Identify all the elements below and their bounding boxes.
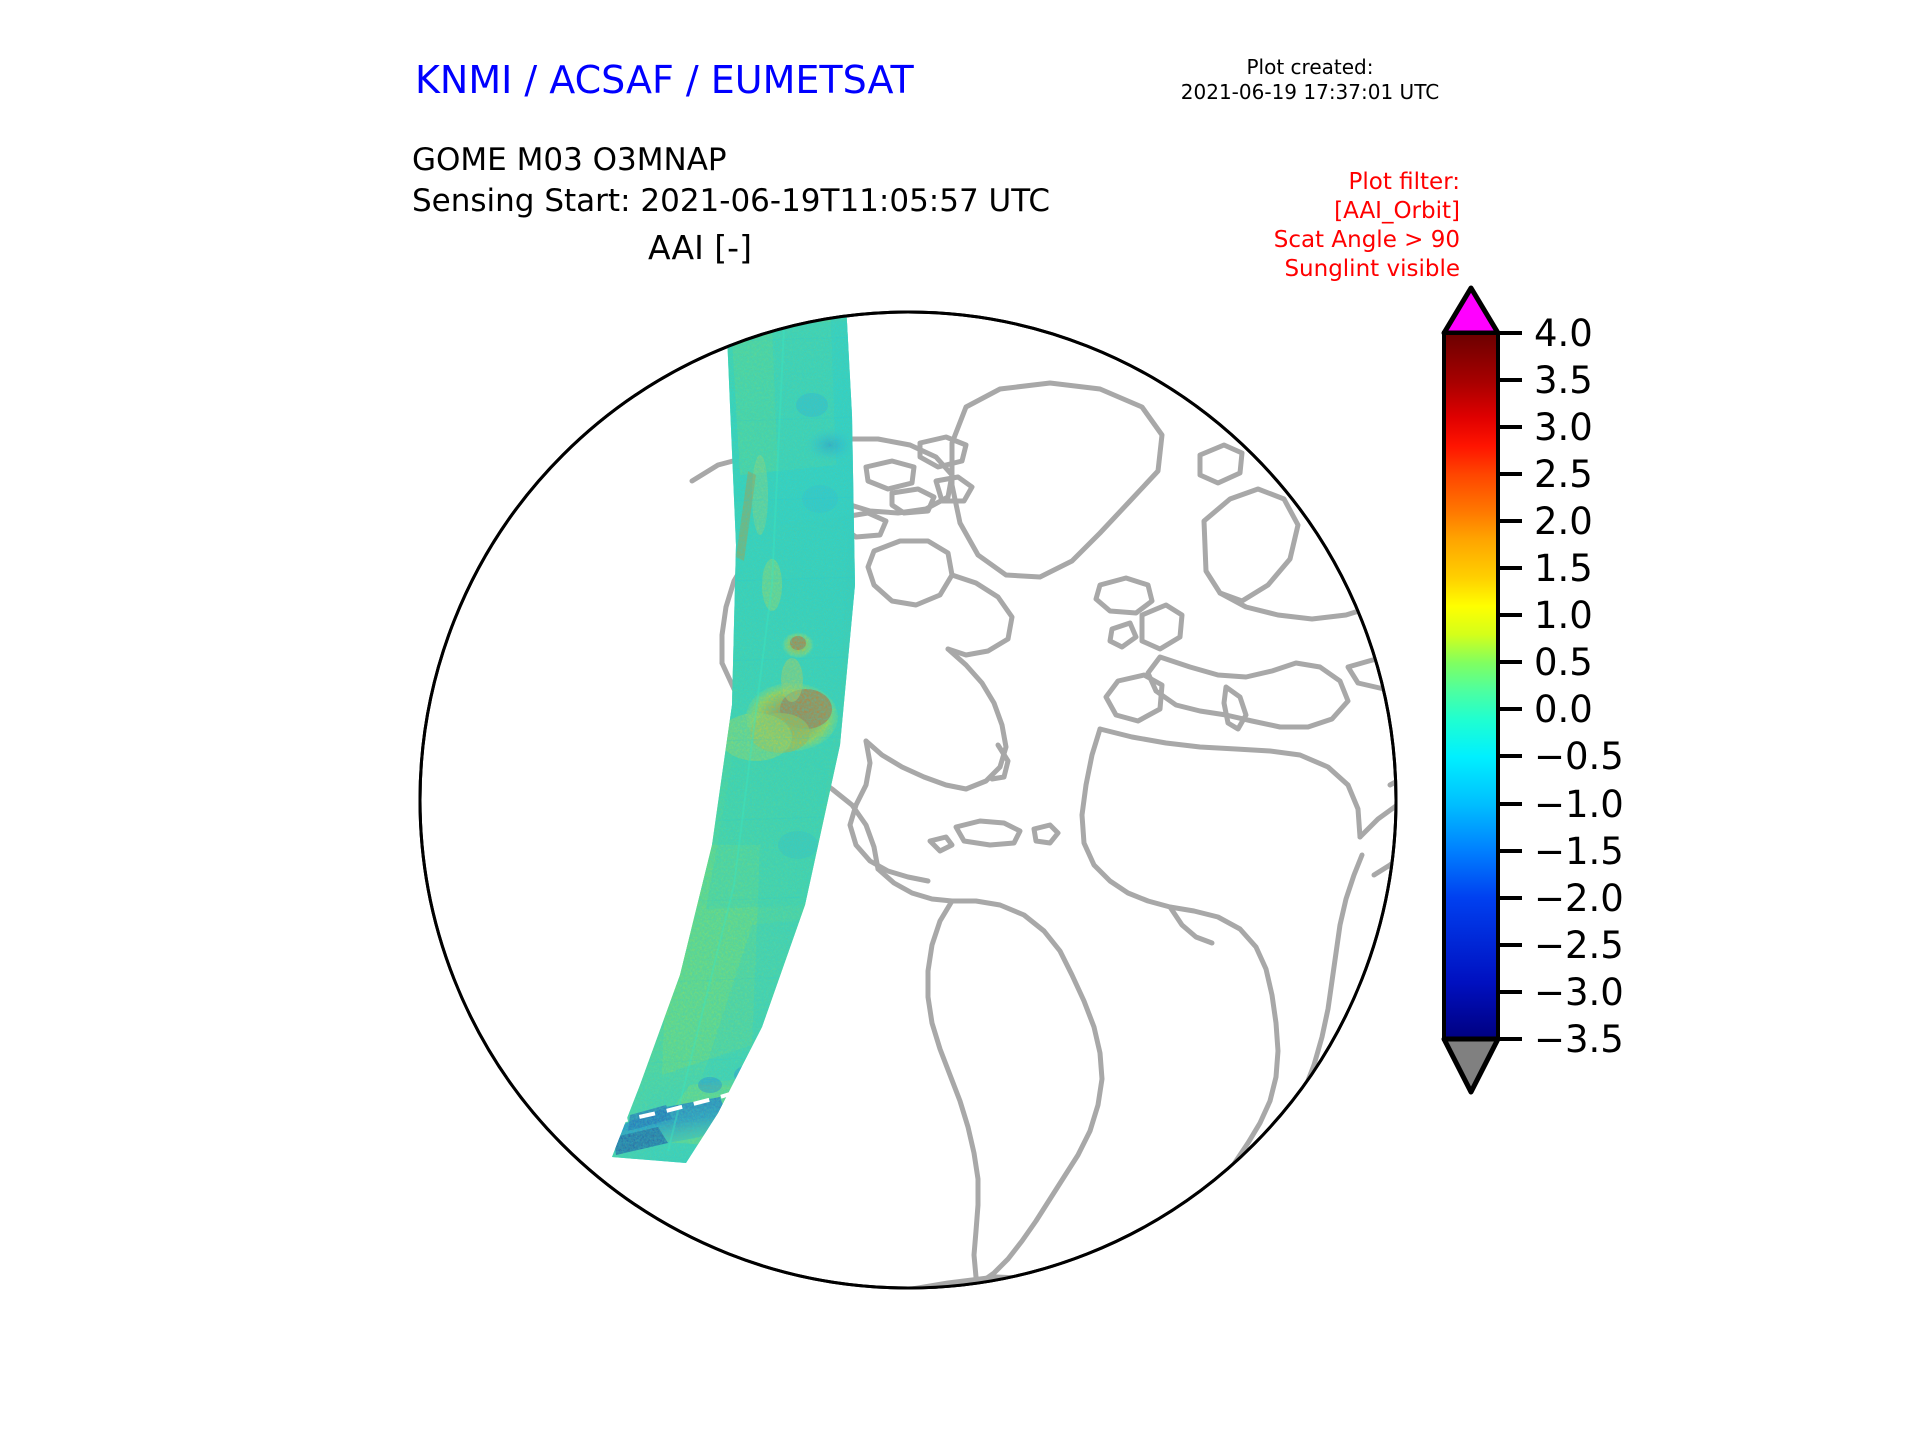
plot-created-label: Plot created: (1140, 55, 1480, 80)
colorbar-tick-label: −1.5 (1534, 830, 1624, 873)
colorbar-tick-label: −2.5 (1534, 924, 1624, 967)
plot-filter-dataset: [AAI_Orbit] (1120, 197, 1460, 226)
product-info-block: GOME M03 O3MNAP Sensing Start: 2021-06-1… (412, 140, 1050, 222)
colorbar-tick-label: 3.5 (1534, 359, 1593, 402)
plot-created-value: 2021-06-19 17:37:01 UTC (1140, 80, 1480, 105)
colorbar-tick-label: 2.5 (1534, 453, 1593, 496)
colorbar-tick-labels: 4.0 3.5 3.0 2.5 2.0 1.5 1.0 0.5 0.0 −0.5… (1534, 312, 1624, 1061)
organisation-title: KNMI / ACSAF / EUMETSAT (415, 58, 914, 102)
colorbar-tick-label: 0.5 (1534, 641, 1593, 684)
plot-filter-label: Plot filter: (1120, 168, 1460, 197)
colorbar-tick-label: 0.0 (1534, 688, 1593, 731)
colorbar-over-arrow (1444, 288, 1498, 333)
colorbar-tick-label: −3.0 (1534, 971, 1624, 1014)
colorbar-svg: 4.0 3.5 3.0 2.5 2.0 1.5 1.0 0.5 0.0 −0.5… (1430, 280, 1710, 1100)
globe-map-area (400, 285, 1420, 1325)
plot-page: KNMI / ACSAF / EUMETSAT Plot created: 20… (0, 0, 1920, 1440)
product-name: GOME M03 O3MNAP (412, 140, 1050, 181)
colorbar-tick-label: 2.0 (1534, 500, 1593, 543)
colorbar-tick-label: −2.0 (1534, 877, 1624, 920)
plot-filter-sunglint: Sunglint visible (1120, 255, 1460, 284)
colorbar-tick-label: −3.5 (1534, 1018, 1624, 1061)
plot-created-block: Plot created: 2021-06-19 17:37:01 UTC (1140, 55, 1480, 105)
colorbar-tick-label: −1.0 (1534, 783, 1624, 826)
colorbar-tick-label: 3.0 (1534, 406, 1593, 449)
colorbar-tick-label: 1.5 (1534, 547, 1593, 590)
colorbar-tick-label: 1.0 (1534, 594, 1593, 637)
plot-filter-block: Plot filter: [AAI_Orbit] Scat Angle > 90… (1120, 168, 1460, 284)
colorbar-under-arrow (1444, 1039, 1498, 1092)
colorbar-ticks (1498, 333, 1522, 1039)
colorbar-gradient-bar (1444, 333, 1498, 1039)
plot-filter-scat-angle: Scat Angle > 90 (1120, 226, 1460, 255)
colorbar-tick-label: −0.5 (1534, 735, 1624, 778)
globe-map-svg (400, 285, 1420, 1325)
colorbar: 4.0 3.5 3.0 2.5 2.0 1.5 1.0 0.5 0.0 −0.5… (1430, 280, 1710, 1100)
sensing-start: Sensing Start: 2021-06-19T11:05:57 UTC (412, 181, 1050, 222)
colorbar-tick-label: 4.0 (1534, 312, 1593, 355)
